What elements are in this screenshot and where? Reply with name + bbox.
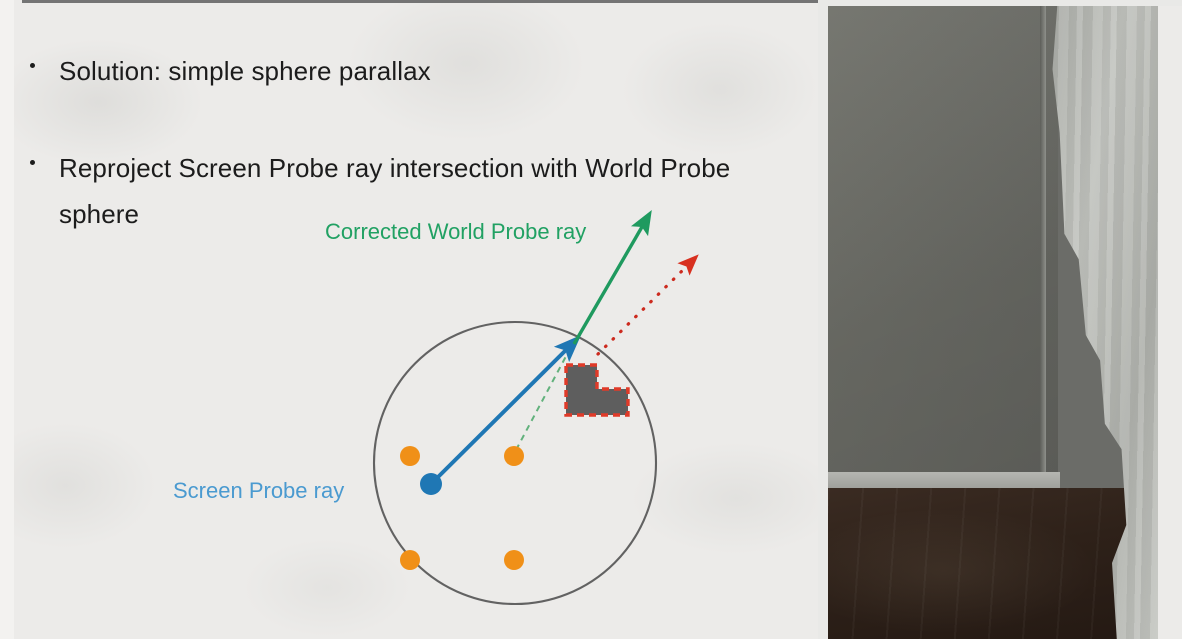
presentation-screen: Solution: simple sphere parallax Reproje… [0, 0, 1182, 639]
world-probe-dashed-ray [516, 345, 572, 450]
corrected-world-probe-ray-label: Corrected World Probe ray [325, 219, 586, 245]
floor-light-sheen [828, 488, 1158, 639]
screen-probe-origin-dot [420, 473, 442, 495]
video-right-border [1158, 0, 1182, 639]
screen-probe-ray-label: Screen Probe ray [173, 478, 344, 504]
world-probe-dot [400, 550, 420, 570]
occluder-block [566, 365, 628, 415]
world-probe-dot [504, 550, 524, 570]
wall-shading [828, 6, 1058, 490]
world-probe-dot [400, 446, 420, 466]
webcam-feed [818, 0, 1182, 639]
wall-corner-edge [1040, 6, 1046, 486]
world-probe-dot [504, 446, 524, 466]
video-top-border [818, 0, 1182, 6]
video-left-border [818, 0, 828, 639]
slide-pane: Solution: simple sphere parallax Reproje… [0, 0, 818, 639]
sphere-parallax-diagram [0, 0, 818, 639]
screen-probe-ray-line [431, 344, 572, 484]
